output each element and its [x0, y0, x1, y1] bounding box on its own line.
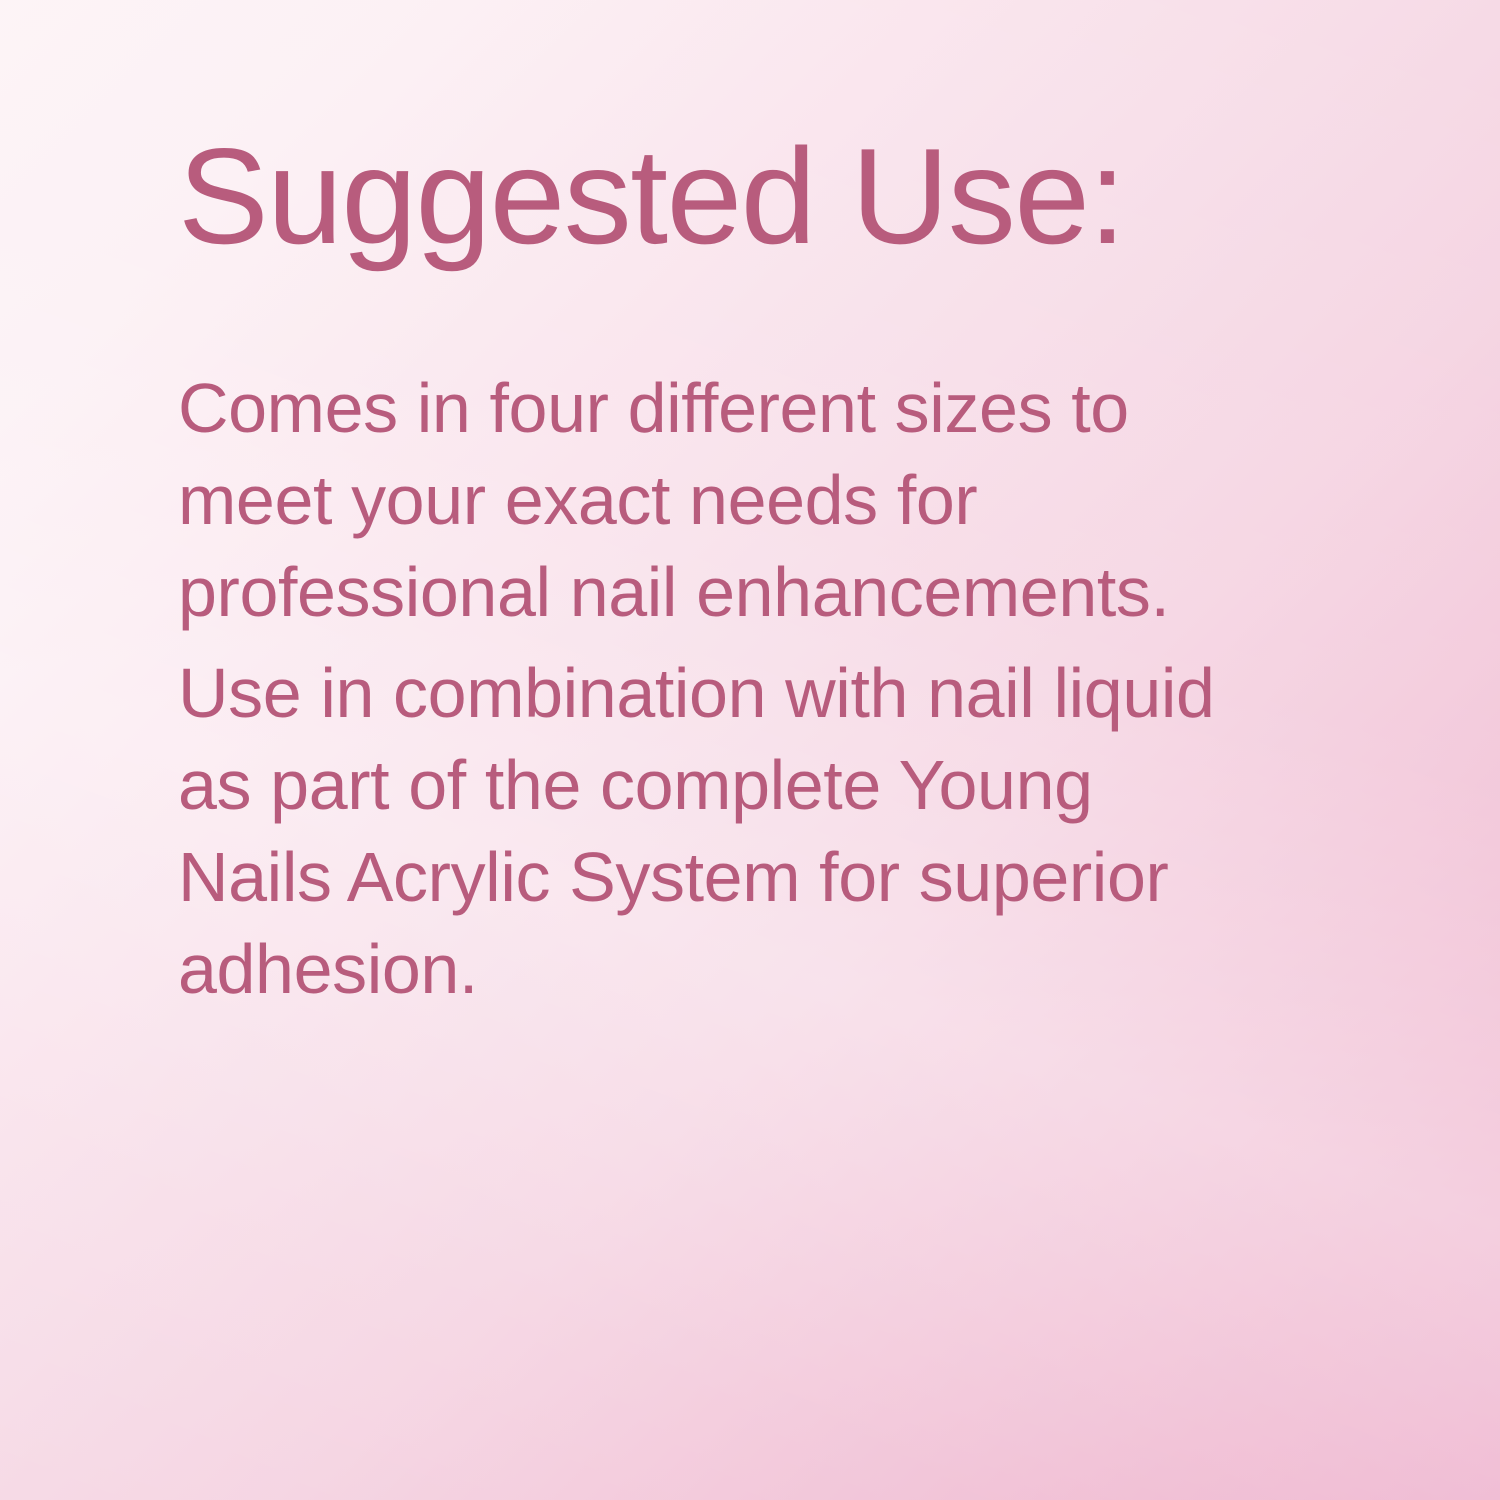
page-title: Suggested Use:	[178, 128, 1278, 264]
suggested-use-card: Suggested Use: Comes in four different s…	[0, 0, 1500, 1500]
paragraph-sizes: Comes in four different sizes to meet yo…	[178, 362, 1253, 638]
paragraph-usage: Use in combination with nail liquid as p…	[178, 647, 1253, 1015]
